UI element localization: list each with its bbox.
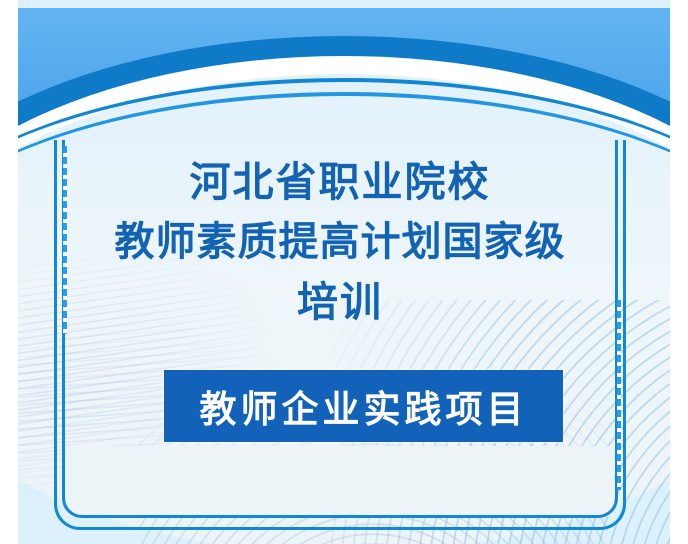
project-banner: 教师企业实践项目 — [164, 370, 563, 442]
title-line-3: 培训 — [62, 272, 618, 332]
poster-card: 河北省职业院校 教师素质提高计划国家级 培训 教师企业实践项目 — [18, 0, 670, 544]
project-banner-label: 教师企业实践项目 — [200, 379, 528, 433]
page-title: 河北省职业院校 教师素质提高计划国家级 培训 — [62, 152, 618, 332]
poster-canvas: 河北省职业院校 教师素质提高计划国家级 培训 教师企业实践项目 — [0, 0, 688, 544]
title-line-2: 教师素质提高计划国家级 — [62, 212, 618, 272]
title-line-1: 河北省职业院校 — [62, 152, 618, 212]
